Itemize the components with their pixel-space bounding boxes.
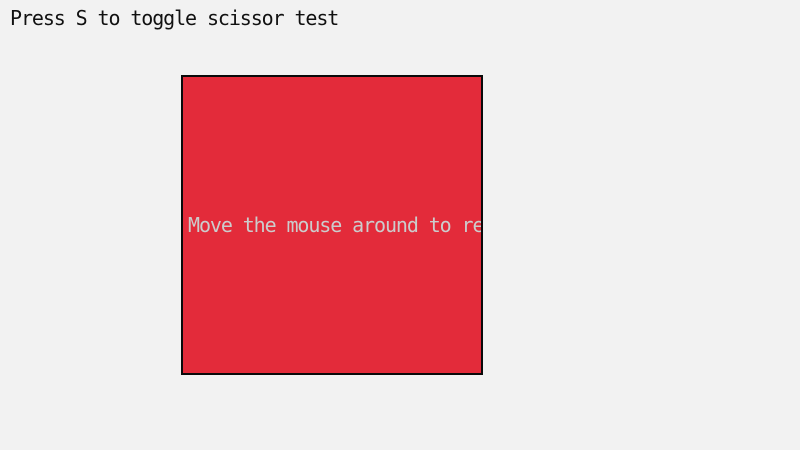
canvas-stage[interactable]: Press S to toggle scissor test Move the … bbox=[0, 0, 800, 450]
hud-instruction-text: Press S to toggle scissor test bbox=[10, 6, 338, 30]
scissor-test-rectangle[interactable]: Move the mouse around to resize the scis… bbox=[181, 75, 483, 375]
scissor-box-label: Move the mouse around to resize the scis… bbox=[188, 213, 483, 237]
